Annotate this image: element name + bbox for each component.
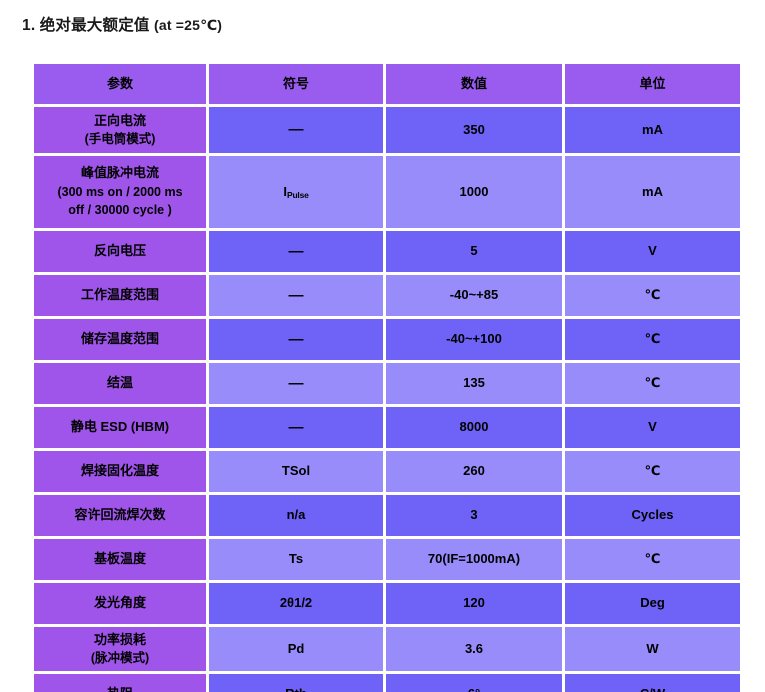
cell-unit: ℃ [565, 363, 740, 404]
section-title: 1. 绝对最大额定值 (at =25℃) [22, 13, 222, 35]
parameter-label: 正向电流 [38, 112, 202, 131]
cell-parameter: 容许回流焊次数 [34, 495, 206, 536]
parameter-label: 工作温度范围 [38, 286, 202, 305]
cell-value: 135 [386, 363, 562, 404]
symbol-text: — [289, 287, 304, 304]
table-row: 正向电流(手电筒模式)—350mA [34, 107, 740, 153]
symbol-text: — [289, 375, 304, 392]
page-root: 1. 绝对最大额定值 (at =25℃) 参数 符号 数值 单位 正向电流(手电… [0, 0, 765, 692]
cell-parameter: 静电 ESD (HBM) [34, 407, 206, 448]
cell-unit: Deg [565, 583, 740, 624]
cell-value: 260 [386, 451, 562, 492]
cell-value: -40~+100 [386, 319, 562, 360]
cell-symbol: — [209, 107, 383, 153]
table-row: 静电 ESD (HBM)—8000V [34, 407, 740, 448]
column-header-unit: 单位 [565, 64, 740, 104]
cell-symbol: — [209, 231, 383, 272]
cell-unit: ℃ [565, 539, 740, 580]
cell-value: 3.6 [386, 627, 562, 671]
cell-symbol: — [209, 275, 383, 316]
parameter-note-line-1: (脉冲模式) [38, 649, 202, 667]
symbol-text: Rth [285, 686, 307, 692]
symbol-text: n/a [287, 507, 306, 522]
table-row: 基板温度Ts70(IF=1000mA)℃ [34, 539, 740, 580]
symbol-text: TSol [282, 463, 310, 478]
cell-parameter: 反向电压 [34, 231, 206, 272]
cell-symbol: — [209, 363, 383, 404]
cell-value: 120 [386, 583, 562, 624]
symbol-text: — [289, 243, 304, 260]
cell-parameter: 储存温度范围 [34, 319, 206, 360]
symbol-subscript: Pulse [287, 190, 309, 200]
cell-value: 6° [386, 674, 562, 692]
cell-parameter: 功率损耗(脉冲模式) [34, 627, 206, 671]
cell-parameter: 正向电流(手电筒模式) [34, 107, 206, 153]
cell-parameter: 工作温度范围 [34, 275, 206, 316]
parameter-label: 结温 [38, 374, 202, 393]
cell-parameter: 结温 [34, 363, 206, 404]
parameter-note-line-2: off / 30000 cycle ) [38, 201, 202, 219]
table-row: 储存温度范围—-40~+100℃ [34, 319, 740, 360]
parameter-note-line-1: (300 ms on / 2000 ms [38, 183, 202, 201]
spec-table-wrapper: 参数 符号 数值 单位 正向电流(手电筒模式)—350mA峰值脉冲电流(300 … [31, 61, 737, 692]
table-row: 结温—135℃ [34, 363, 740, 404]
symbol-text: 2θ1/2 [280, 595, 312, 610]
section-title-main: 绝对最大额定值 [40, 17, 150, 34]
table-row: 功率损耗(脉冲模式)Pd3.6W [34, 627, 740, 671]
cell-value: 8000 [386, 407, 562, 448]
symbol-text: — [289, 419, 304, 436]
cell-unit: ℃ [565, 319, 740, 360]
symbol-text: Ts [289, 551, 303, 566]
column-header-value: 数值 [386, 64, 562, 104]
cell-unit: V [565, 407, 740, 448]
parameter-label: 热阻 [38, 685, 202, 692]
table-row: 峰值脉冲电流(300 ms on / 2000 msoff / 30000 cy… [34, 156, 740, 228]
column-header-parameter: 参数 [34, 64, 206, 104]
table-row: 热阻Rth6°C/W [34, 674, 740, 692]
symbol-text: — [289, 331, 304, 348]
cell-symbol: n/a [209, 495, 383, 536]
parameter-label: 峰值脉冲电流 [38, 164, 202, 183]
table-body: 正向电流(手电筒模式)—350mA峰值脉冲电流(300 ms on / 2000… [34, 107, 740, 692]
parameter-label: 静电 ESD (HBM) [38, 418, 202, 437]
absolute-maximum-ratings-table: 参数 符号 数值 单位 正向电流(手电筒模式)—350mA峰值脉冲电流(300 … [31, 61, 743, 692]
cell-parameter: 基板温度 [34, 539, 206, 580]
parameter-label: 发光角度 [38, 594, 202, 613]
table-header-row: 参数 符号 数值 单位 [34, 64, 740, 104]
parameter-label: 焊接固化温度 [38, 462, 202, 481]
cell-value: 350 [386, 107, 562, 153]
cell-unit: ℃ [565, 275, 740, 316]
symbol-text: Pd [288, 641, 305, 656]
table-row: 容许回流焊次数n/a3Cycles [34, 495, 740, 536]
cell-parameter: 焊接固化温度 [34, 451, 206, 492]
cell-symbol: — [209, 319, 383, 360]
cell-unit: ℃ [565, 451, 740, 492]
section-title-condition: (at =25℃) [154, 17, 222, 33]
parameter-label: 储存温度范围 [38, 330, 202, 349]
parameter-note-line-1: (手电筒模式) [38, 130, 202, 148]
cell-unit: V [565, 231, 740, 272]
cell-symbol: 2θ1/2 [209, 583, 383, 624]
cell-unit: mA [565, 156, 740, 228]
cell-unit: mA [565, 107, 740, 153]
cell-value: 70(IF=1000mA) [386, 539, 562, 580]
section-title-number: 1. [22, 17, 35, 34]
cell-parameter: 热阻 [34, 674, 206, 692]
table-row: 发光角度2θ1/2120Deg [34, 583, 740, 624]
cell-value: -40~+85 [386, 275, 562, 316]
cell-value: 3 [386, 495, 562, 536]
cell-value: 1000 [386, 156, 562, 228]
cell-value: 5 [386, 231, 562, 272]
parameter-label: 基板温度 [38, 550, 202, 569]
cell-unit: W [565, 627, 740, 671]
table-row: 焊接固化温度TSol260℃ [34, 451, 740, 492]
cell-symbol: IPulse [209, 156, 383, 228]
cell-unit: C/W [565, 674, 740, 692]
column-header-symbol: 符号 [209, 64, 383, 104]
cell-symbol: Ts [209, 539, 383, 580]
parameter-label: 反向电压 [38, 242, 202, 261]
table-row: 工作温度范围—-40~+85℃ [34, 275, 740, 316]
symbol-text: — [289, 121, 304, 138]
cell-symbol: Pd [209, 627, 383, 671]
cell-parameter: 发光角度 [34, 583, 206, 624]
parameter-label: 功率损耗 [38, 631, 202, 650]
table-row: 反向电压—5V [34, 231, 740, 272]
cell-symbol: Rth [209, 674, 383, 692]
cell-symbol: TSol [209, 451, 383, 492]
cell-parameter: 峰值脉冲电流(300 ms on / 2000 msoff / 30000 cy… [34, 156, 206, 228]
parameter-label: 容许回流焊次数 [38, 506, 202, 525]
cell-symbol: — [209, 407, 383, 448]
cell-unit: Cycles [565, 495, 740, 536]
